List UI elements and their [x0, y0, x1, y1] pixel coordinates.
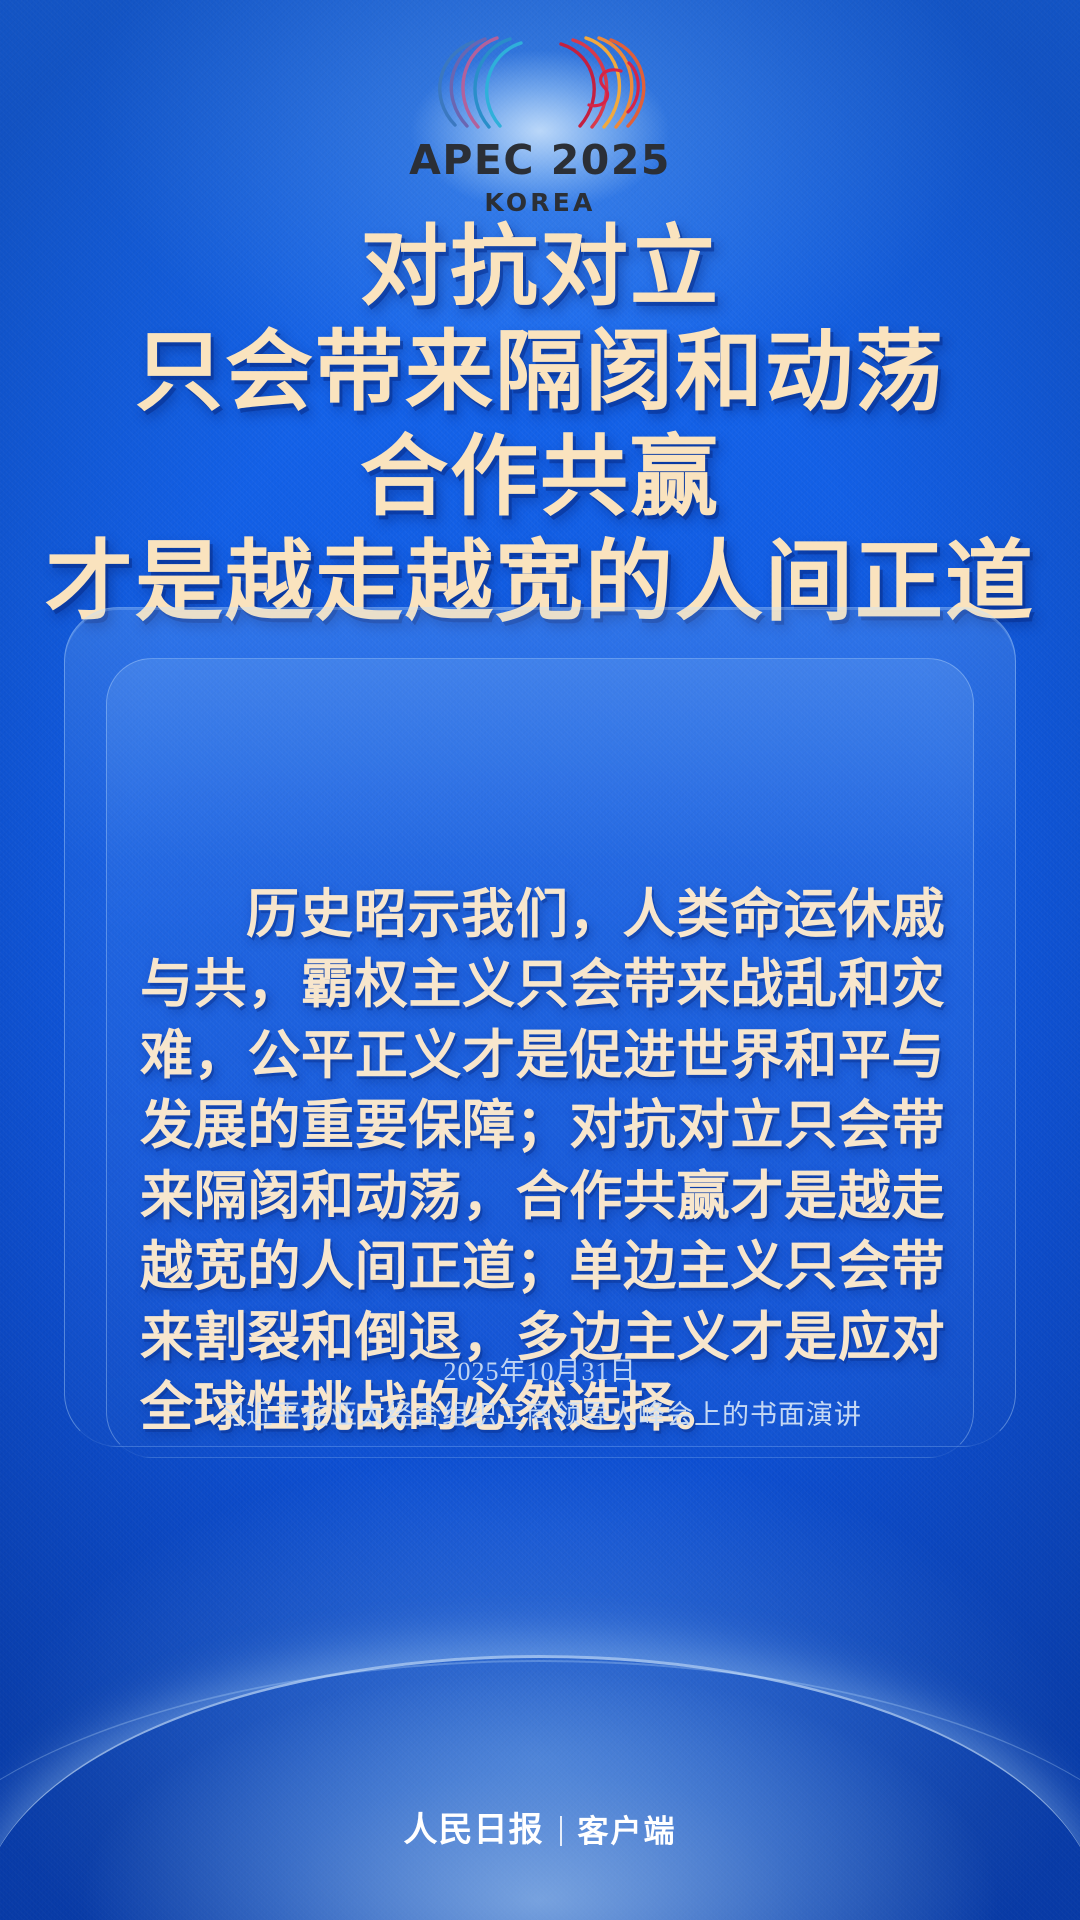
headline-line-3: 合作共赢	[0, 435, 1080, 523]
apec-emblem-icon	[415, 26, 665, 138]
footer-brand: 人民日报 客户端	[0, 1814, 1080, 1848]
globe-horizon-arc	[0, 1655, 1080, 1920]
logo-korea-text: KOREA	[484, 190, 595, 215]
brand-peoples-daily-label: 人民日报	[404, 1814, 560, 1848]
caption-date: 2025年10月31日	[0, 1352, 1080, 1391]
apec-logo-block: APEC 2025 KOREA	[0, 26, 1080, 215]
headline-block: 对抗对立 只会带来隔阂和动荡 合作共赢 才是越走越宽的人间正道	[0, 225, 1080, 628]
poster-canvas: APEC 2025 KOREA 对抗对立 只会带来隔阂和动荡 合作共赢 才是越走…	[0, 0, 1080, 1920]
headline-line-1: 对抗对立	[0, 225, 1080, 313]
globe-glow	[0, 1590, 1080, 1920]
headline-line-2: 只会带来隔阂和动荡	[0, 330, 1080, 418]
logo-apec-text: APEC 2025	[409, 140, 671, 181]
caption-block: 2025年10月31日 习近平在亚太经合组织工商领导人峰会上的书面演讲	[0, 1352, 1080, 1437]
caption-source: 习近平在亚太经合组织工商领导人峰会上的书面演讲	[0, 1395, 1080, 1437]
brand-client-label: 客户端	[562, 1816, 677, 1847]
globe-outer-arc	[0, 1660, 1080, 1920]
